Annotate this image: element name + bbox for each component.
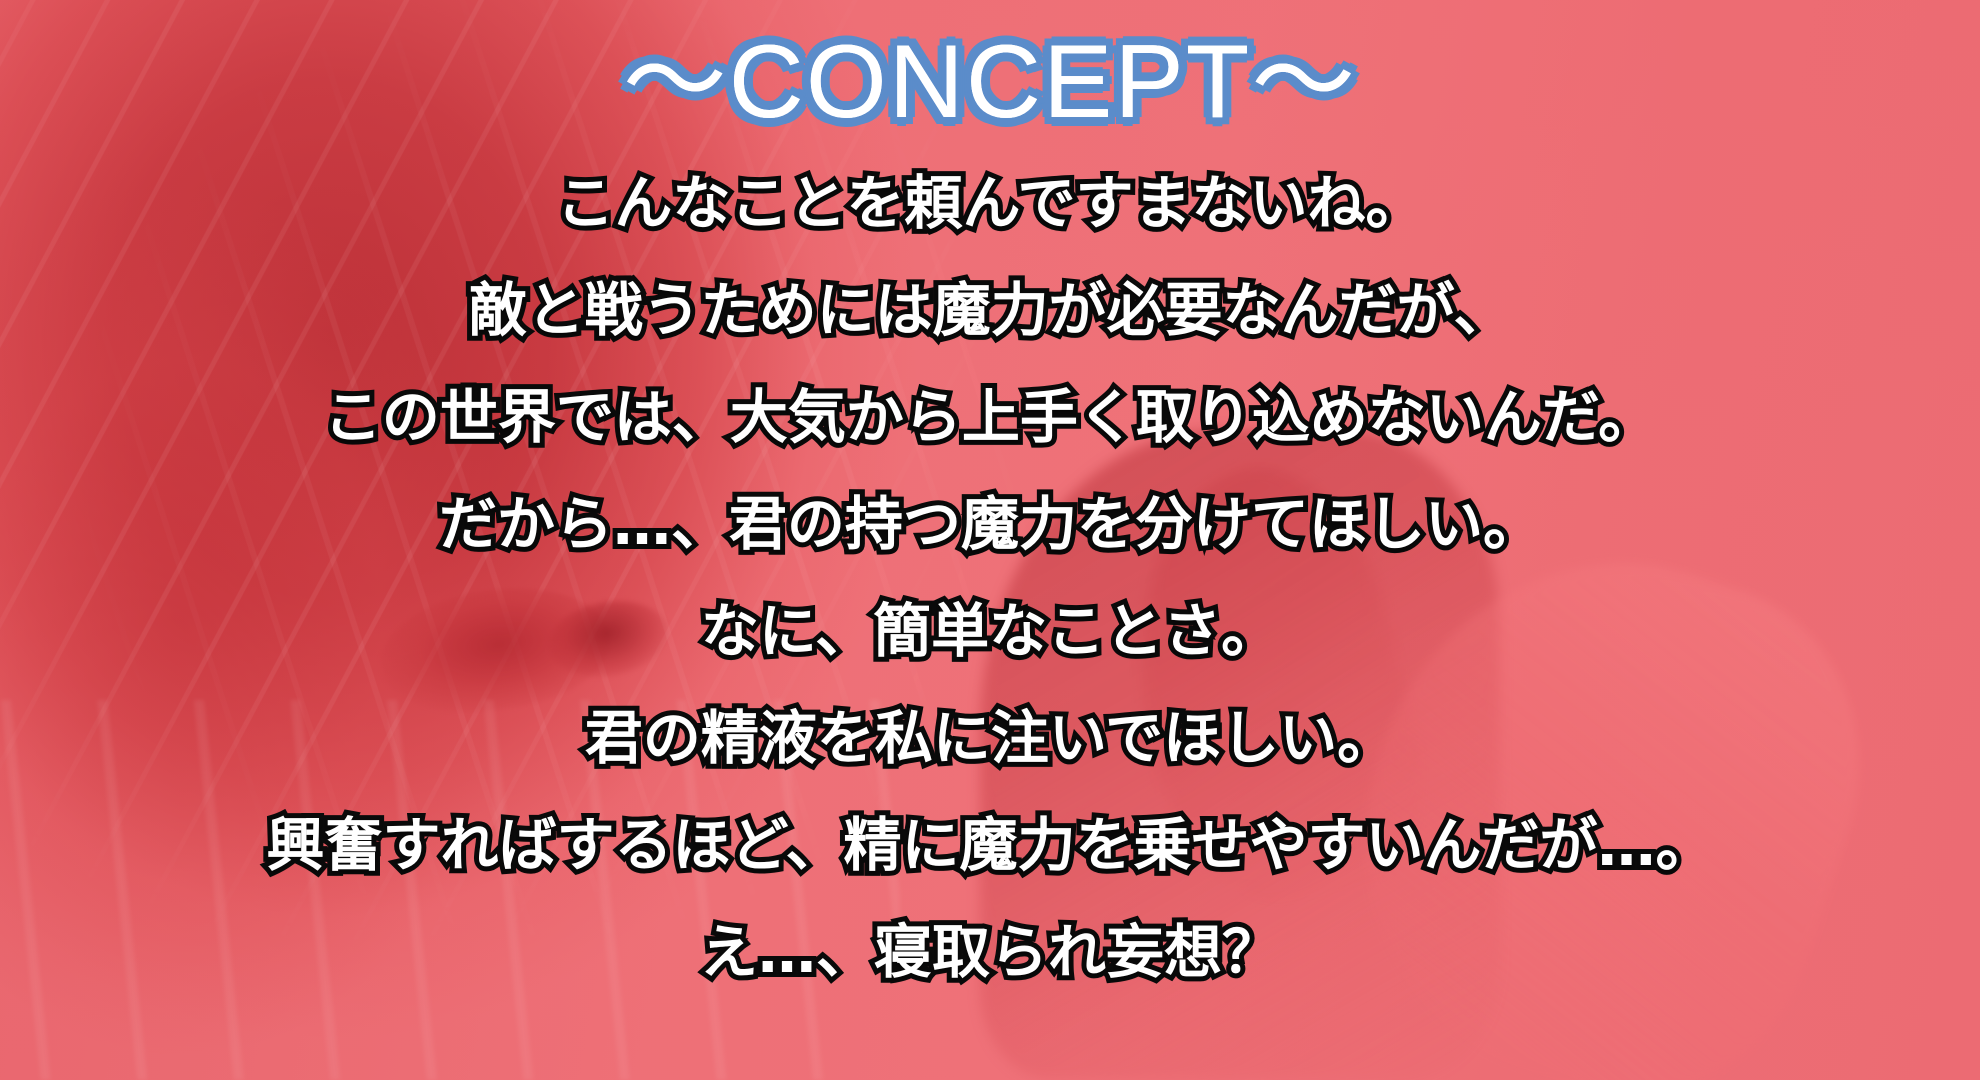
concept-line: なに、簡単なことさ。 [0, 578, 1980, 685]
concept-line: だから…、君の持つ魔力を分けてほしい。 [0, 471, 1980, 578]
concept-line: え…、寝取られ妄想？ [0, 899, 1980, 1006]
concept-line: 君の精液を私に注いでほしい。 [0, 685, 1980, 792]
concept-line: こんなことを頼んですまないね。 [0, 150, 1980, 257]
concept-line: 敵と戦うためには魔力が必要なんだが、 [0, 257, 1980, 364]
concept-banner: 〜CONCEPT〜 こんなことを頼んですまないね。 敵と戦うためには魔力が必要な… [0, 0, 1980, 1080]
concept-text-block: こんなことを頼んですまないね。 敵と戦うためには魔力が必要なんだが、 この世界で… [0, 150, 1980, 1006]
concept-line: この世界では、大気から上手く取り込めないんだ。 [0, 364, 1980, 471]
concept-line: 興奮すればするほど、精に魔力を乗せやすいんだが…。 [0, 792, 1980, 899]
title-row: 〜CONCEPT〜 [0, 28, 1980, 137]
page-title: 〜CONCEPT〜 [623, 28, 1357, 137]
